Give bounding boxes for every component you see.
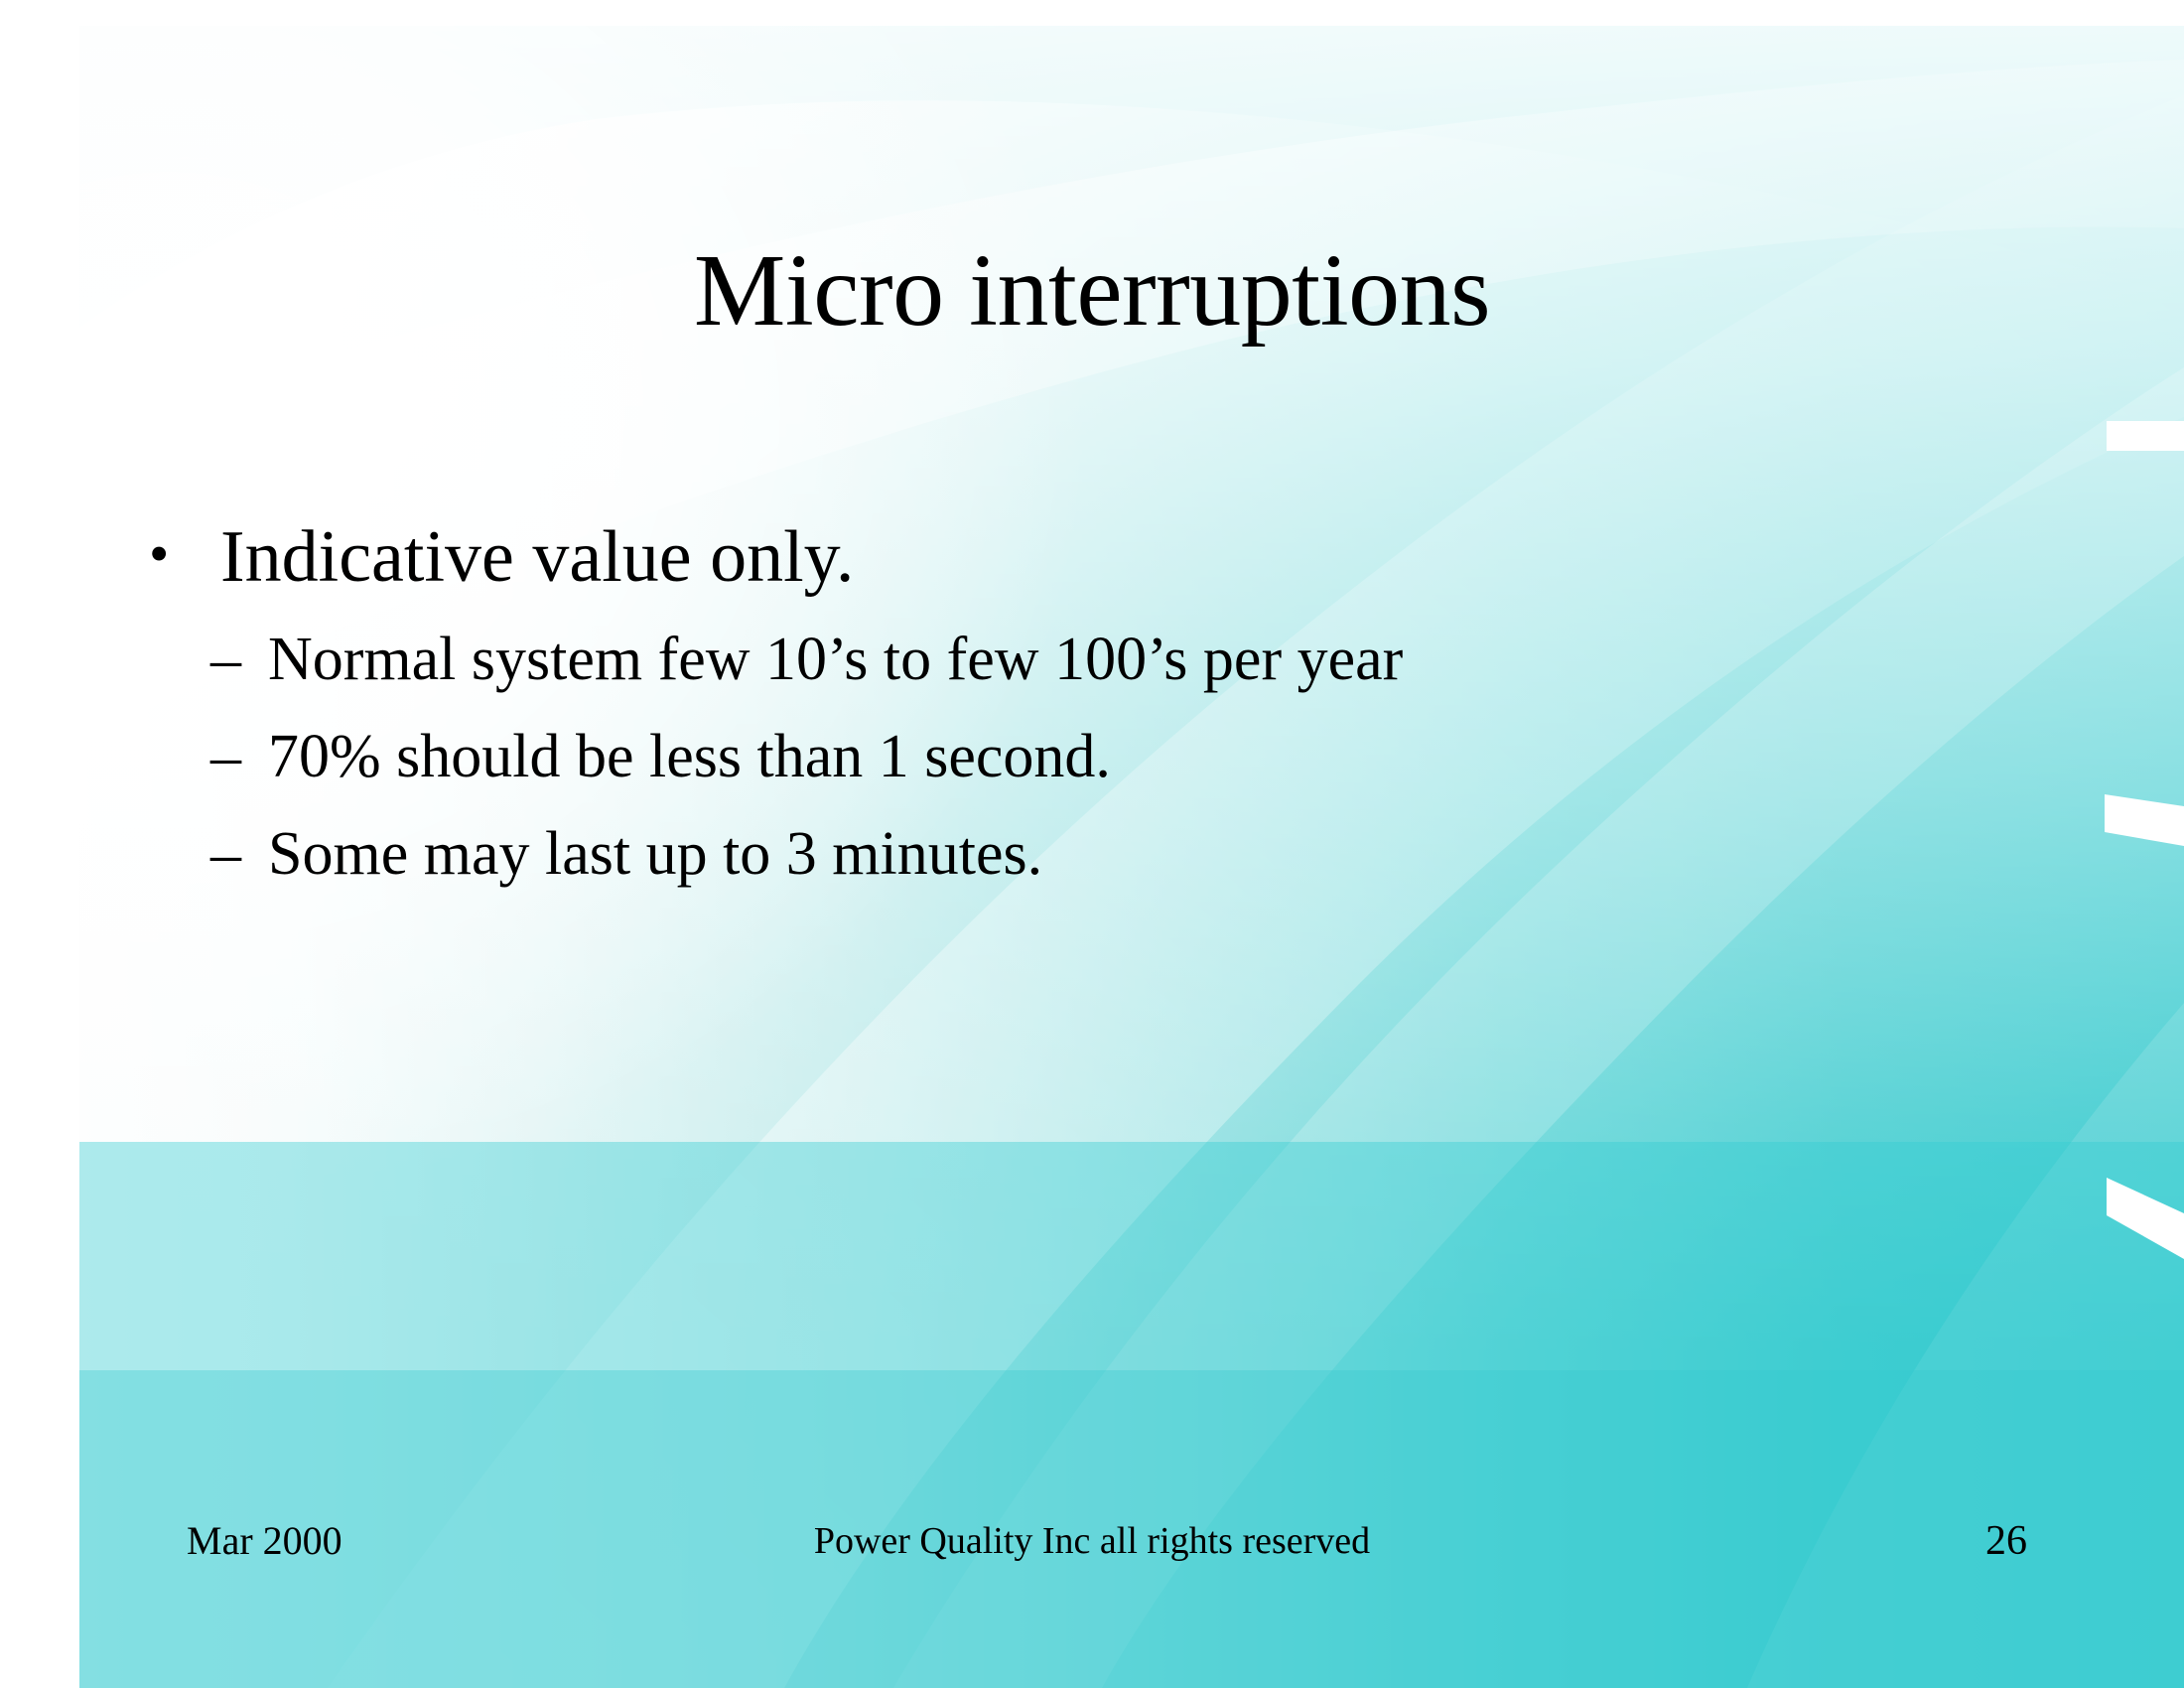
bullet-marker-dash-icon: – [210,819,268,891]
slide-footer: Mar 2000 Power Quality Inc all rights re… [0,1517,2184,1577]
bullet-text-normal-system: Normal system few 10’s to few 100’s per … [268,625,2075,696]
bullet-marker-dot-icon: • [149,516,220,593]
slide-content: Micro interruptions • Indicative value o… [0,0,2184,1688]
slide-title: Micro interruptions [0,236,2184,346]
bullet-text-indicative-value: Indicative value only. [220,516,2075,599]
bullet-text-seventy-percent: 70% should be less than 1 second. [268,722,2075,793]
bullet-item-level2: – 70% should be less than 1 second. [210,722,2075,793]
bullet-item-level1: • Indicative value only. [149,516,2075,599]
bullet-item-level2: – Some may last up to 3 minutes. [210,819,2075,891]
slide-body: • Indicative value only. – Normal system… [149,516,2075,891]
presentation-slide: Micro interruptions • Indicative value o… [0,0,2184,1688]
footer-page-number: 26 [1985,1517,2027,1565]
bullet-marker-dash-icon: – [210,625,268,696]
footer-copyright: Power Quality Inc all rights reserved [0,1519,2184,1563]
bullet-marker-dash-icon: – [210,722,268,793]
bullet-item-level2: – Normal system few 10’s to few 100’s pe… [210,625,2075,696]
bullet-text-three-minutes: Some may last up to 3 minutes. [268,819,2075,891]
